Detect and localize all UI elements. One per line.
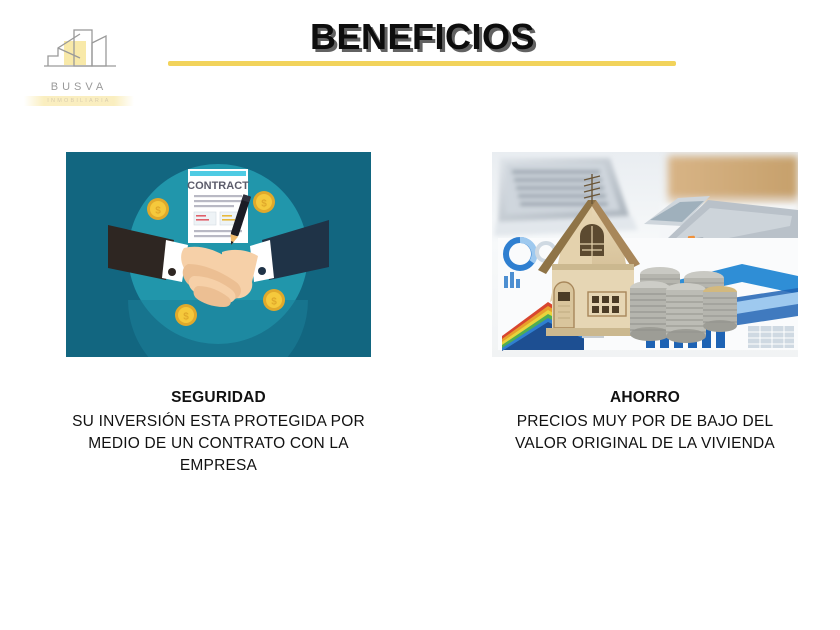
benefit-card-ahorro: AHORRO PRECIOS MUY POR DE BAJO DEL VALOR…: [492, 152, 798, 455]
coin-icon-4: $: [263, 289, 285, 311]
title-underline-rule: [168, 61, 676, 66]
coin-stack-left: [630, 281, 670, 341]
benefit-caption-ahorro: AHORRO PRECIOS MUY POR DE BAJO DEL VALOR…: [492, 387, 798, 455]
handshake-contract-illustration: CONTRACT: [66, 152, 371, 357]
coin-icon-3: $: [175, 304, 197, 326]
benefit-heading-ahorro: AHORRO: [492, 387, 798, 409]
brand-logo-name: BUSVA: [24, 81, 134, 93]
coin-icon-2: $: [253, 191, 275, 213]
svg-text:CONTRACT: CONTRACT: [187, 180, 249, 192]
model-house-coins-calculator-photo: [492, 152, 798, 357]
benefit-body-ahorro: PRECIOS MUY POR DE BAJO DEL VALOR ORIGIN…: [492, 411, 798, 455]
page-title: BENEFICIOS: [170, 16, 675, 58]
coin-stack-center: [666, 283, 706, 343]
svg-text:$: $: [261, 199, 267, 210]
svg-text:$: $: [183, 312, 189, 323]
svg-text:$: $: [155, 206, 161, 217]
benefit-card-seguridad: CONTRACT: [66, 152, 371, 477]
table-grid: [748, 326, 794, 348]
brand-logo-tagline: INMOBILIARIA: [24, 96, 134, 106]
model-house-photo-svg: [492, 152, 798, 357]
coin-icon-1: $: [147, 198, 169, 220]
benefit-body-seguridad: SU INVERSIÓN ESTA PROTEGIDA POR MEDIO DE…: [66, 411, 371, 477]
coin-stack-right: [703, 286, 737, 332]
building-outline-icon: [24, 26, 134, 82]
benefit-heading-seguridad: SEGURIDAD: [66, 387, 371, 409]
svg-text:$: $: [271, 297, 277, 308]
brand-logo: BUSVA INMOBILIARIA: [24, 26, 134, 108]
handshake-contract-svg: CONTRACT: [66, 152, 371, 357]
benefit-caption-seguridad: SEGURIDAD SU INVERSIÓN ESTA PROTEGIDA PO…: [66, 387, 371, 477]
